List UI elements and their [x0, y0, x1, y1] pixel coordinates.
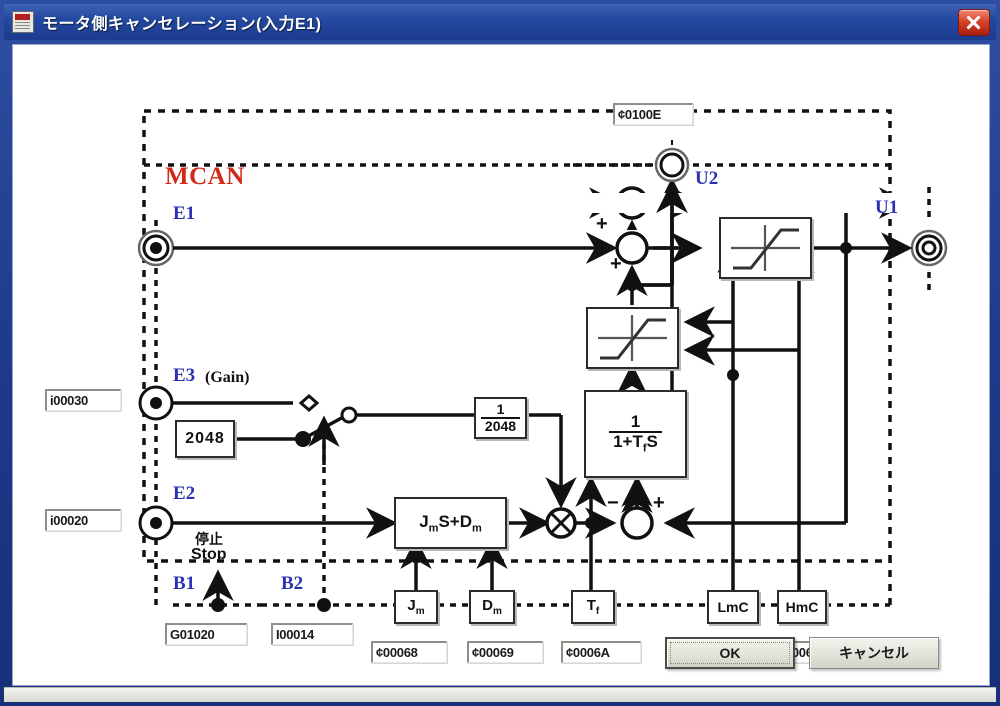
- inv2048-numerator: 1: [481, 402, 520, 417]
- address-field-e3[interactable]: i00030: [45, 389, 121, 411]
- filter-numerator: 1: [609, 413, 662, 431]
- status-bar: [4, 687, 996, 702]
- dialog-client-area: 2048 1 2048 1 1+TfS JmS+Dm: [12, 44, 990, 686]
- window-title: モータ側キャンセレーション(入力E1): [42, 10, 321, 34]
- gain-block-inv2048[interactable]: 1 2048: [474, 397, 527, 439]
- address-field-e2[interactable]: i00020: [45, 509, 121, 531]
- inv2048-denominator: 2048: [481, 417, 520, 434]
- switch-pole-lower: [295, 431, 311, 447]
- mcan-boundary: [144, 111, 890, 561]
- cancel-button-label: キャンセル: [839, 643, 909, 663]
- port-e1: [139, 231, 173, 265]
- summing-junction-2: [622, 508, 652, 538]
- address-field-jm[interactable]: ¢00068: [371, 641, 447, 663]
- address-field-u2[interactable]: ¢0100E: [613, 103, 693, 125]
- close-icon[interactable]: [958, 9, 990, 36]
- junction-dot-u1: [840, 242, 852, 254]
- junction-dot-b1: [211, 598, 225, 612]
- app-icon: [12, 11, 34, 33]
- address-field-dm[interactable]: ¢00069: [467, 641, 543, 663]
- address-field-tf[interactable]: ¢0006A: [561, 641, 641, 663]
- plant-block[interactable]: JmS+Dm: [394, 497, 507, 549]
- param-block-tf[interactable]: Tf: [571, 590, 615, 624]
- stop-label-en: Stop: [191, 546, 227, 564]
- address-field-b1[interactable]: G01020: [165, 623, 247, 645]
- filter-denominator: 1+TfS: [609, 431, 662, 455]
- port-label-e3: E3: [173, 365, 195, 387]
- switch-common: [342, 408, 356, 422]
- port-label-e2: E2: [173, 483, 195, 505]
- junction-dot-tf: [585, 517, 597, 529]
- diagram-wires: [13, 45, 989, 685]
- port-label-u2: U2: [695, 168, 718, 190]
- sign-sum2-plus: +: [653, 492, 665, 515]
- ok-button[interactable]: OK: [665, 637, 795, 669]
- filter-block[interactable]: 1 1+TfS: [584, 390, 687, 478]
- param-block-hmc[interactable]: HmC: [777, 590, 827, 624]
- sign-sum1-a: +: [596, 213, 608, 236]
- sign-sum2-minus: −: [607, 492, 619, 515]
- port-e3: [140, 387, 172, 419]
- sign-sum1-b: +: [610, 253, 622, 276]
- port-u1: [912, 231, 946, 265]
- junction-dot-lmc: [727, 369, 739, 381]
- address-field-b2[interactable]: I00014: [271, 623, 353, 645]
- cancel-button[interactable]: キャンセル: [809, 637, 939, 669]
- port-label-b2: B2: [281, 573, 303, 595]
- port-label-e1: E1: [173, 203, 195, 225]
- block-diagram-canvas: 2048 1 2048 1 1+TfS JmS+Dm: [13, 45, 989, 685]
- saturation-block-lower[interactable]: [586, 307, 679, 369]
- switch-pole-upper: [301, 396, 317, 410]
- port-label-e3-suffix: (Gain): [205, 369, 249, 387]
- plant-expression: JmS+Dm: [419, 512, 482, 534]
- port-label-u1: U1: [875, 197, 898, 219]
- dialog-window: モータ側キャンセレーション(入力E1): [0, 0, 1000, 706]
- port-label-b1: B1: [173, 573, 195, 595]
- param-block-dm[interactable]: Dm: [469, 590, 515, 624]
- mcan-group-label: MCAN: [165, 163, 245, 191]
- port-e2: [140, 507, 172, 539]
- title-bar: モータ側キャンセレーション(入力E1): [4, 4, 996, 40]
- port-u2: [656, 149, 688, 181]
- saturation-block-upper[interactable]: [719, 217, 812, 279]
- param-block-lmc[interactable]: LmC: [707, 590, 759, 624]
- param-block-jm[interactable]: Jm: [394, 590, 438, 624]
- junction-dot-b2: [317, 598, 331, 612]
- gain-block-2048[interactable]: 2048: [175, 420, 235, 458]
